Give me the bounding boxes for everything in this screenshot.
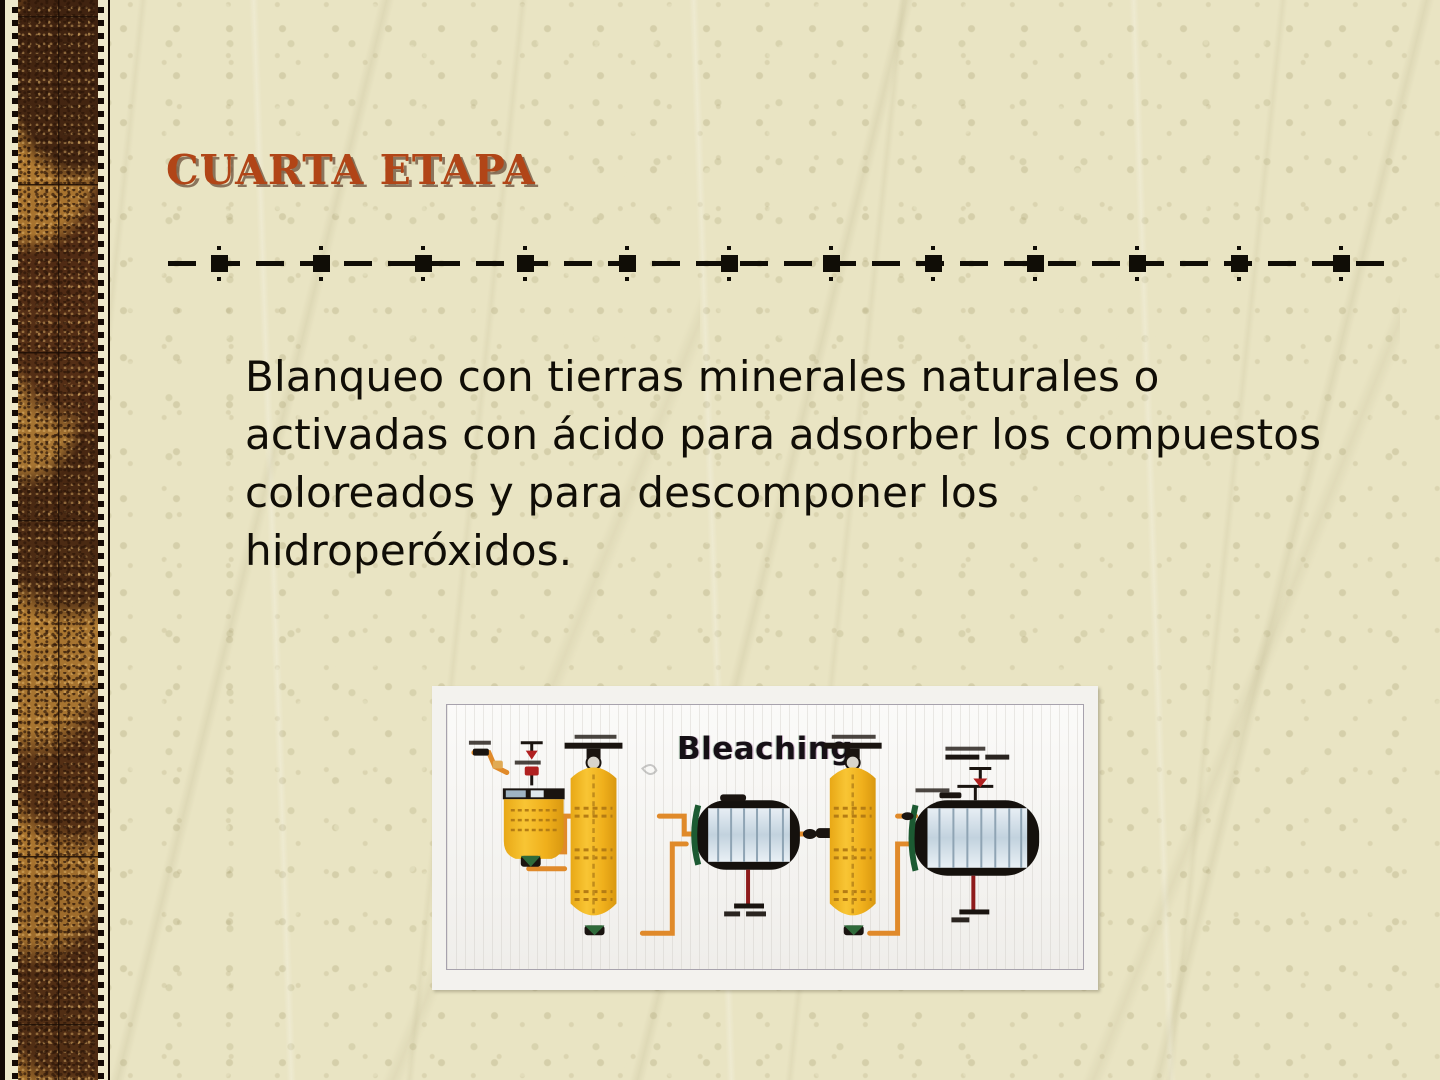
divider-marker [1231, 255, 1248, 272]
divider-marker [1129, 255, 1146, 272]
divider-marker [925, 255, 942, 272]
decorative-glyph [642, 765, 656, 774]
image-inner-frame: Bleaching [446, 704, 1084, 970]
border-rail-outer-light [5, 0, 12, 1080]
body-paragraph: Blanqueo con tierras minerales naturales… [245, 348, 1335, 580]
border-edge-dark-right [108, 0, 110, 1080]
bleacher-vessel-1 [565, 743, 623, 936]
leaf-filter-2 [912, 755, 1040, 923]
divider-marker [721, 255, 738, 272]
border-grid-lines [18, 0, 98, 1080]
divider-marker [211, 255, 228, 272]
divider-marker [619, 255, 636, 272]
divider [168, 252, 1392, 276]
border-tick-rail-left [12, 0, 18, 1080]
divider-marker [823, 255, 840, 272]
page-title: CUARTA ETAPA [166, 146, 536, 194]
process-flow-diagram [447, 705, 1083, 969]
divider-marker [1027, 255, 1044, 272]
bleacher-vessel-2 [816, 743, 882, 936]
divider-marker [415, 255, 432, 272]
divider-marker [517, 255, 534, 272]
slide: CUARTA ETAPA Blanqueo con tierras minera… [0, 0, 1440, 1080]
divider-marker [313, 255, 330, 272]
leaf-filter-1 [694, 794, 800, 916]
left-decorative-border [0, 0, 110, 1080]
equipment-labels [469, 735, 985, 793]
bleaching-process-image: Bleaching [432, 686, 1098, 990]
divider-dashed-line [168, 261, 1392, 266]
divider-marker [1333, 255, 1350, 272]
border-texture-panel [18, 0, 98, 1080]
